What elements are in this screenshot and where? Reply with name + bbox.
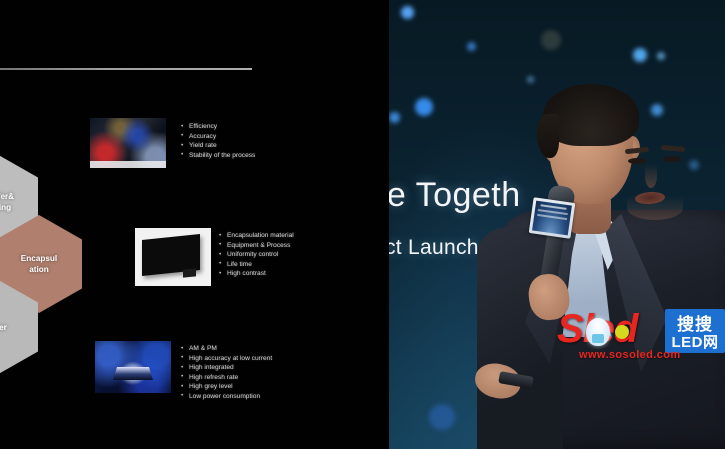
list-item: Life time (219, 260, 294, 270)
speaker-eye-left (628, 158, 646, 164)
speaker-eye-right (663, 156, 681, 162)
hexagon-driver-label: Driver (0, 322, 7, 333)
bokeh-light (389, 112, 400, 123)
speaker-eyebrow-right (661, 145, 685, 152)
bullet-group-encapsulation: Encapsulation material Equipment & Proce… (219, 231, 294, 279)
bullet-group-driver: AM & PM High accuracy at low current Hig… (181, 344, 272, 402)
list-item: AM & PM (181, 344, 272, 354)
watermark-green-dot-icon (615, 325, 629, 339)
list-item: High grey level (181, 382, 272, 392)
watermark-logo: Sled 搜搜 LED网 www.sosoled.com (557, 305, 725, 367)
hexagon-transfer-label: Transfer&bonding (0, 191, 14, 213)
bokeh-light (401, 6, 414, 19)
bokeh-light (467, 42, 476, 51)
chip-body-shape (113, 367, 153, 380)
microphone-flag-badge (529, 197, 576, 238)
list-item: High refresh rate (181, 373, 272, 383)
list-item: Yield rate (181, 141, 255, 151)
driver-chip-photo-thumbnail (95, 341, 171, 393)
list-item: High accuracy at low current (181, 354, 272, 364)
stage-video-panel: re Togeth uct Launch · Sp (389, 0, 725, 449)
bokeh-light (541, 30, 561, 50)
machine-photo-strip (90, 161, 166, 168)
title-underline-rule (0, 68, 252, 70)
list-item: High contrast (219, 269, 294, 279)
bokeh-light (429, 404, 455, 430)
watermark-bulb-icon (586, 318, 610, 346)
list-item: Efficiency (181, 122, 255, 132)
speaker-figure (485, 78, 725, 449)
bokeh-light (633, 48, 647, 62)
watermark-chinese-box: 搜搜 LED网 (665, 309, 725, 353)
list-item: High integrated (181, 363, 272, 373)
list-item: Accuracy (181, 132, 255, 142)
speaker-hair-side (537, 114, 559, 158)
presentation-slide-panel: oB) d rate ting low current ntrol sign T… (0, 0, 389, 449)
panel-foot-shape (183, 268, 196, 277)
bokeh-light (415, 98, 433, 116)
hexagon-encapsulation-label: Encapsulation (21, 253, 57, 275)
bullet-group-transfer-bonding: Efficiency Accuracy Yield rate Stability… (181, 122, 255, 160)
display-panel-photo-thumbnail (135, 228, 211, 286)
machine-photo-thumbnail (90, 118, 166, 168)
watermark-url: www.sosoled.com (579, 349, 681, 361)
slide-title: oB) (0, 22, 58, 46)
list-item: Equipment & Process (219, 241, 294, 251)
speaker-chin (627, 196, 683, 220)
slide-content: oB) d rate ting low current ntrol sign T… (0, 0, 389, 449)
list-item: Encapsulation material (219, 231, 294, 241)
screenshot-root: oB) d rate ting low current ntrol sign T… (0, 0, 725, 449)
list-item: Low power consumption (181, 392, 272, 402)
bokeh-light (657, 52, 665, 60)
microphone-flag-artwork (532, 201, 572, 236)
list-item: Stability of the process (181, 151, 255, 161)
speaker-nose (645, 164, 657, 188)
list-item: Uniformity control (219, 250, 294, 260)
